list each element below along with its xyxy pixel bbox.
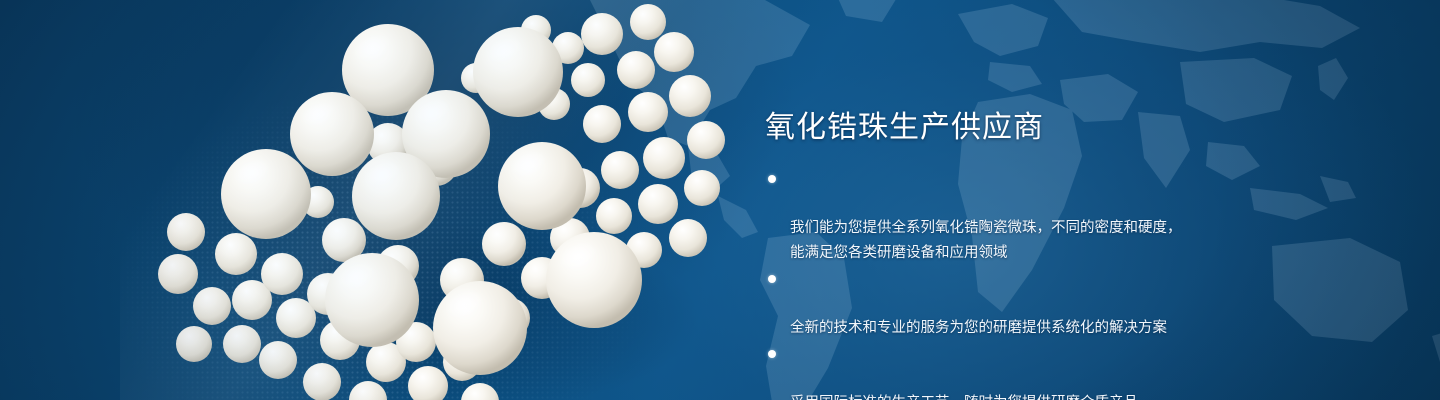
bullet-dot-icon — [768, 275, 776, 283]
hero-banner: 氧化锆珠生产供应商 我们能为您提供全系列氧化锆陶瓷微珠，不同的密度和硬度， 能满… — [0, 0, 1440, 400]
bullet-text: 我们能为您提供全系列氧化锆陶瓷微珠，不同的密度和硬度， 能满足您各类研磨设备和应… — [790, 220, 1182, 261]
banner-headline: 氧化锆珠生产供应商 — [765, 108, 1285, 148]
list-item: 采用国际标准的生产工艺，随时为您提供研磨介质产品 — [765, 341, 1285, 400]
bullet-dot-icon — [768, 350, 776, 358]
banner-copy: 氧化锆珠生产供应商 我们能为您提供全系列氧化锆陶瓷微珠，不同的密度和硬度， 能满… — [765, 108, 1285, 400]
bullet-text: 全新的技术和专业的服务为您的研磨提供系统化的解决方案 — [790, 320, 1167, 336]
list-item: 全新的技术和专业的服务为您的研磨提供系统化的解决方案 — [765, 266, 1285, 341]
bullet-dot-icon — [768, 175, 776, 183]
list-item: 我们能为您提供全系列氧化锆陶瓷微珠，不同的密度和硬度， 能满足您各类研磨设备和应… — [765, 166, 1285, 266]
bullet-text: 采用国际标准的生产工艺，随时为您提供研磨介质产品 — [790, 395, 1138, 400]
banner-bullet-list: 我们能为您提供全系列氧化锆陶瓷微珠，不同的密度和硬度， 能满足您各类研磨设备和应… — [765, 166, 1285, 400]
